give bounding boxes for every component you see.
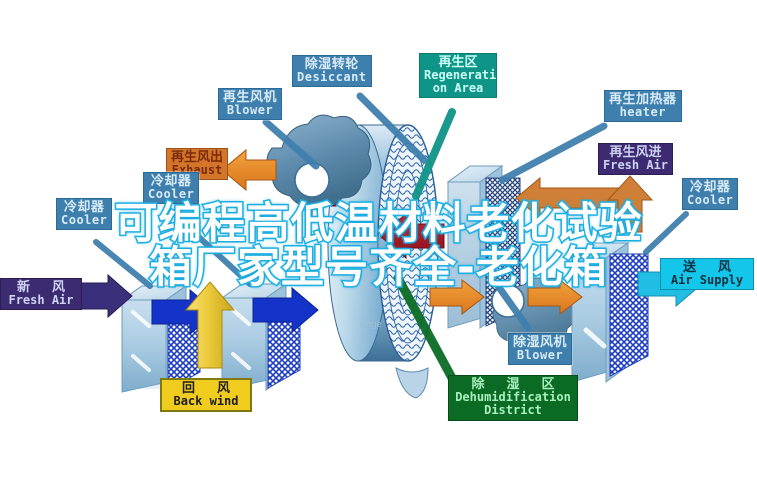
supply-cooler-unit xyxy=(572,243,648,382)
label-cooler-left-2-cn: 冷却器 xyxy=(148,175,194,188)
label-desiccant: 除湿转轮 Desiccant xyxy=(292,55,372,87)
label-cooler-right-cn: 冷却器 xyxy=(687,181,733,194)
svg-text:xinge: xinge xyxy=(360,319,382,329)
label-desiccant-cn: 除湿转轮 xyxy=(297,58,367,71)
label-cooler-right-en: Cooler xyxy=(687,194,733,206)
label-air-supply: 送风 Air Supply xyxy=(660,258,754,290)
label-cooler-left-1: 冷却器 Cooler xyxy=(56,198,112,230)
label-cooler-left-2-en: Cooler xyxy=(148,188,194,200)
label-fresh-air: 新风 Fresh Air xyxy=(0,278,82,310)
label-dehum-district-en-line2: District xyxy=(453,404,573,417)
diagram-canvas: xinge xyxy=(0,0,757,488)
label-desiccant-en: Desiccant xyxy=(297,71,367,83)
label-dehum-district-cn: 除湿区 xyxy=(453,378,573,391)
label-back-wind-cn: 回风 xyxy=(166,382,246,395)
label-air-supply-en: Air Supply xyxy=(665,274,749,286)
label-cooler-left-1-en: Cooler xyxy=(61,214,107,226)
label-dehum-district: 除湿区 Dehumidification District xyxy=(448,375,578,421)
label-regen-blower: 再生风机 Blower xyxy=(218,88,282,120)
regen-blower-unit xyxy=(267,115,371,206)
label-cooler-left-2: 冷却器 Cooler xyxy=(143,172,199,204)
label-regen-fresh-air-en: Fresh Air xyxy=(603,159,668,171)
label-fresh-air-en: Fresh Air xyxy=(5,294,77,306)
label-dehum-blower: 除湿风机 Blower xyxy=(508,333,572,365)
label-regen-heater-cn: 再生加热器 xyxy=(609,93,677,106)
label-cooler-right: 冷却器 Cooler xyxy=(682,178,738,210)
label-regen-heater-en: heater xyxy=(609,106,677,118)
schematic-graphics: xinge xyxy=(0,0,757,488)
label-regen-fresh-air: 再生风进 Fresh Air xyxy=(598,143,673,175)
label-air-supply-cn: 送风 xyxy=(665,261,749,274)
label-back-wind-en: Back wind xyxy=(166,395,246,407)
label-regen-area-en-line1: Regenerati xyxy=(424,69,492,82)
label-fresh-air-cn: 新风 xyxy=(5,281,77,294)
label-dehum-blower-cn: 除湿风机 xyxy=(513,336,567,349)
label-regen-heater: 再生加热器 heater xyxy=(604,90,682,122)
label-regen-area-cn: 再生区 xyxy=(424,56,492,69)
label-cooler-left-1-cn: 冷却器 xyxy=(61,201,107,214)
label-regen-blower-cn: 再生风机 xyxy=(223,91,277,104)
label-regen-area-en-line2: on Area xyxy=(424,82,492,95)
label-regen-blower-en: Blower xyxy=(223,104,277,116)
label-dehum-blower-en: Blower xyxy=(513,349,567,361)
label-regen-area: 再生区 Regenerati on Area xyxy=(419,53,497,98)
label-regen-fresh-air-cn: 再生风进 xyxy=(603,146,668,159)
label-back-wind: 回风 Back wind xyxy=(160,378,252,412)
label-exhaust-cn: 再生风出 xyxy=(171,151,223,164)
